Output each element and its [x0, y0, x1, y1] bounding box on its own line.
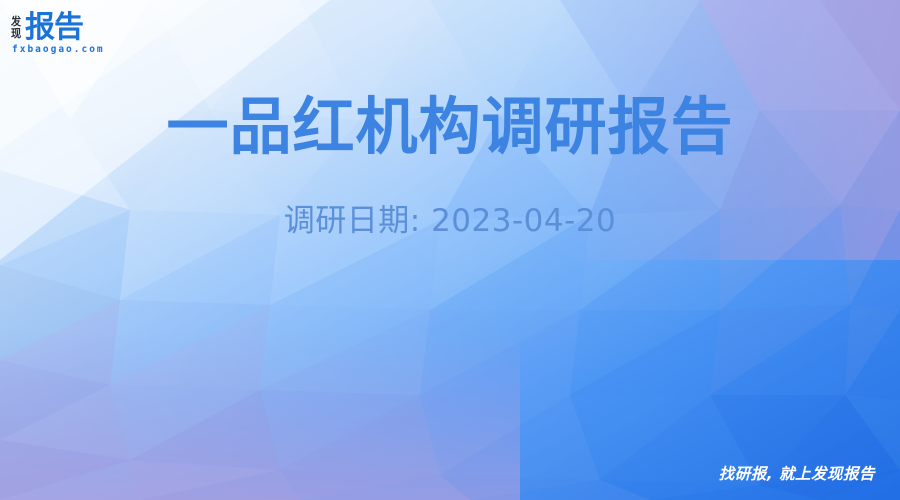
footer-tagline: 找研报, 就上发现报告: [719, 462, 875, 484]
report-cover-page: 发 现 报告 fxbaogao.com 一品红机构调研报告 调研日期: 2023…: [0, 0, 900, 500]
survey-date-subtitle: 调研日期: 2023-04-20: [0, 204, 900, 238]
site-logo[interactable]: 发 现 报告 fxbaogao.com: [11, 13, 105, 55]
logo-url: fxbaogao.com: [12, 44, 105, 55]
low-poly-background: [0, 0, 900, 500]
cover-title-block: 一品红机构调研报告 调研日期: 2023-04-20: [0, 88, 900, 238]
logo-wordmark: 发 现 报告: [11, 13, 83, 43]
logo-stacked-characters: 发 现: [11, 16, 22, 40]
logo-main-text: 报告: [25, 13, 83, 43]
page-title: 一品红机构调研报告: [0, 88, 900, 166]
logo-char-xian: 现: [11, 28, 21, 40]
